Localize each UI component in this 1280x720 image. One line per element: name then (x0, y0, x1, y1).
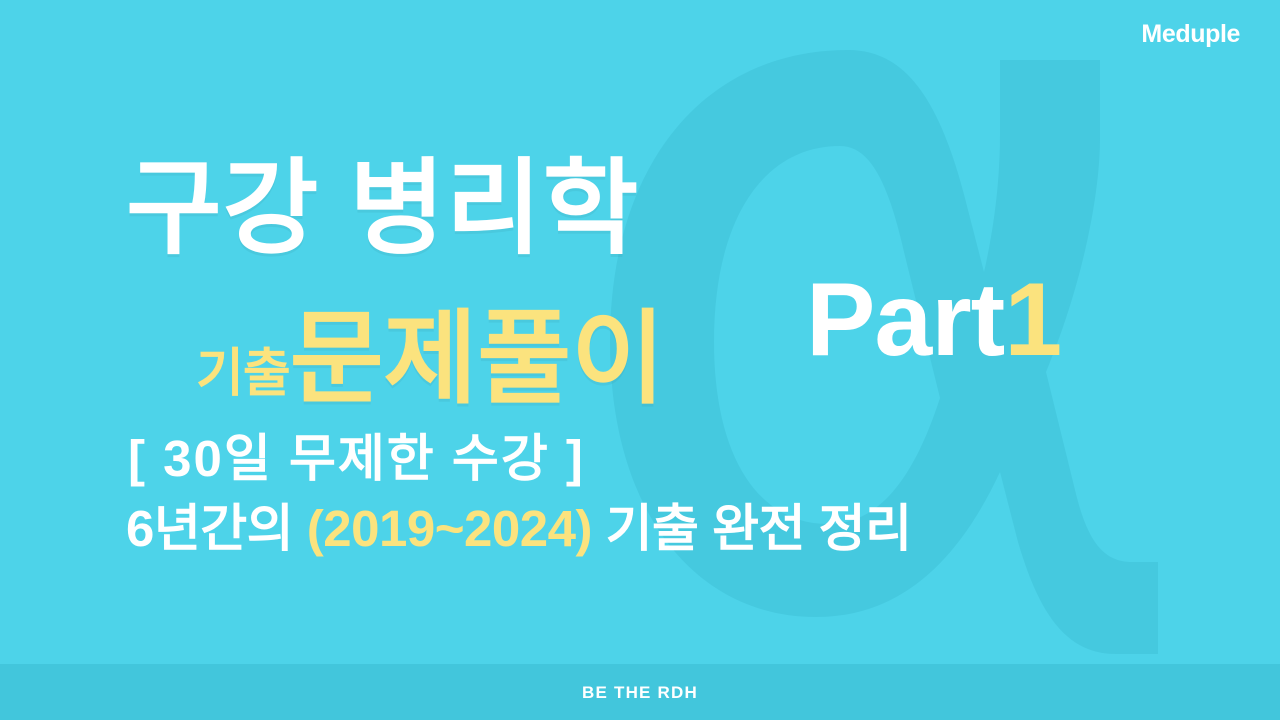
part-number-text: 1 (1004, 262, 1061, 378)
coverage-years-text: (2019~2024) (307, 500, 592, 557)
page-title: 구강 병리학 (126, 152, 639, 266)
footer-band: BE THE RDH (0, 664, 1280, 720)
poster-canvas: Meduple 구강 병리학 기출 문제풀이 Part1 [ 30일 무제한 수… (0, 0, 1280, 720)
part-label: Part1 (806, 268, 1061, 372)
poster-content: 구강 병리학 기출 문제풀이 Part1 [ 30일 무제한 수강 ] 6년간의… (0, 0, 1280, 664)
brand-logo: Meduple (1141, 22, 1240, 47)
footer-tagline: BE THE RDH (582, 684, 698, 701)
part-word-text: Part (806, 262, 1004, 378)
coverage-prefix-text: 6년간의 (126, 500, 307, 557)
subtitle-row: 기출 문제풀이 (196, 284, 665, 410)
subtitle-small-text: 기출 (196, 348, 290, 410)
access-duration-note: [ 30일 무제한 수강 ] (128, 430, 585, 489)
subtitle-large-text: 문제풀이 (290, 308, 665, 410)
coverage-suffix-text: 기출 완전 정리 (592, 500, 912, 557)
coverage-note: 6년간의 (2019~2024) 기출 완전 정리 (126, 500, 912, 559)
